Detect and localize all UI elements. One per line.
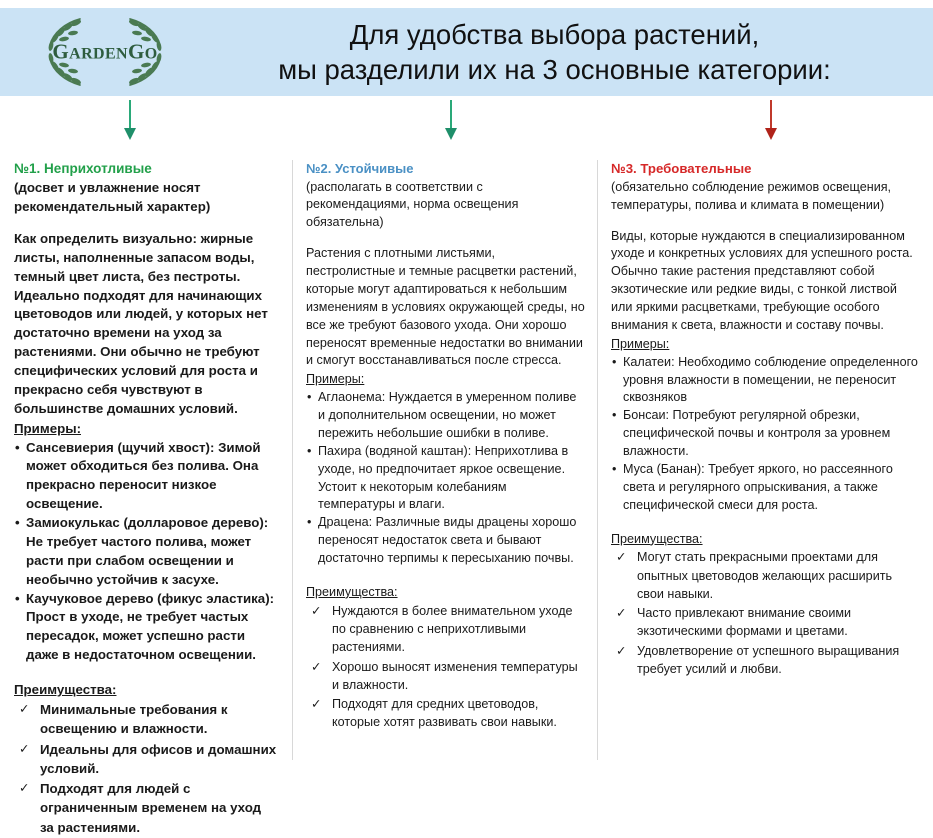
brand-wordmark-o: O: [145, 46, 158, 63]
category-1-intro: Как определить визуально: жирные листы, …: [14, 230, 278, 419]
category-1-examples-list: Сансевиерия (щучий хвост): Зимой может о…: [14, 439, 278, 666]
list-item: Подходят для людей с ограниченным времен…: [14, 779, 278, 837]
category-1-examples-label: Примеры:: [14, 420, 278, 439]
brand-wordmark-g1: G: [52, 40, 69, 64]
category-2-title: №2. Устойчивые: [306, 160, 585, 178]
list-item: Бонсаи: Потребуют регулярной обрезки, сп…: [611, 407, 919, 461]
page-title-line-1: Для удобства выбора растений,: [210, 17, 899, 52]
arrow-head-icon: [765, 128, 777, 140]
category-column-resilient: №2. Устойчивые (располагать в соответств…: [292, 160, 597, 733]
category-2-benefits-list: Нуждаются в более внимательном уходе по …: [306, 602, 585, 732]
category-2-intro: Растения с плотными листьями, пестролист…: [306, 245, 585, 370]
arrow-head-icon: [445, 128, 457, 140]
arrow-shaft: [129, 100, 131, 130]
category-columns: №1. Неприхотливые (досвет и увлажнение н…: [0, 160, 933, 838]
arrow-head-icon: [124, 128, 136, 140]
category-1-benefits-list: Минимальные требования к освещению и вла…: [14, 700, 278, 837]
list-item: Удовлетворение от успешного выращивания …: [611, 642, 919, 679]
list-item: Каучуковое дерево (фикус эластика): Прос…: [14, 590, 278, 666]
category-1-benefits-label: Преимущества:: [14, 681, 278, 700]
header-band: GARDENGO Для удобства выбора растений, м…: [0, 8, 933, 96]
category-2-benefits-label: Преимущества:: [306, 584, 585, 602]
category-2-examples-list: Аглаонема: Нуждается в умеренном поливе …: [306, 389, 585, 568]
category-2-examples-label: Примеры:: [306, 371, 585, 389]
list-item: Сансевиерия (щучий хвост): Зимой может о…: [14, 439, 278, 515]
infographic-page: GARDENGO Для удобства выбора растений, м…: [0, 0, 933, 800]
brand-wordmark-g2: G: [128, 40, 145, 64]
category-1-subtitle: (досвет и увлажнение носят рекомендатель…: [14, 179, 278, 217]
category-3-examples-label: Примеры:: [611, 336, 919, 354]
page-title-line-2: мы разделили их на 3 основные категории:: [210, 52, 899, 87]
arrow-shaft: [450, 100, 452, 130]
list-item: Минимальные требования к освещению и вла…: [14, 700, 278, 739]
category-column-demanding: №3. Требовательные (обязательно соблюден…: [597, 160, 933, 679]
category-3-intro: Виды, которые нуждаются в специализирова…: [611, 228, 919, 335]
category-3-benefits-list: Могут стать прекрасными проектами для оп…: [611, 548, 919, 678]
list-item: Идеальны для офисов и домашних условий.: [14, 740, 278, 779]
list-item: Замиокулькас (долларовое дерево): Не тре…: [14, 514, 278, 590]
list-item: Калатеи: Необходимо соблюдение определен…: [611, 354, 919, 408]
arrow-shaft: [770, 100, 772, 130]
list-item: Пахира (водяной каштан): Неприхотлива в …: [306, 443, 585, 515]
brand-logo: GARDENGO: [0, 8, 210, 96]
list-item: Нуждаются в более внимательном уходе по …: [306, 602, 585, 657]
list-item: Могут стать прекрасными проектами для оп…: [611, 548, 919, 603]
category-1-title: №1. Неприхотливые: [14, 160, 278, 178]
category-3-subtitle: (обязательно соблюдение режимов освещени…: [611, 179, 919, 215]
list-item: Подходят для средних цветоводов, которые…: [306, 695, 585, 732]
list-item: Аглаонема: Нуждается в умеренном поливе …: [306, 389, 585, 443]
list-item: Драцена: Различные виды драцены хорошо п…: [306, 514, 585, 568]
category-3-title: №3. Требовательные: [611, 160, 919, 178]
list-item: Муса (Банан): Требует яркого, но рассеян…: [611, 461, 919, 515]
category-column-undemanding: №1. Неприхотливые (досвет и увлажнение н…: [0, 160, 292, 838]
category-2-subtitle: (располагать в соответствии с рекомендац…: [306, 179, 585, 233]
category-3-benefits-label: Преимущества:: [611, 531, 919, 549]
brand-wordmark: GARDENGO: [0, 42, 210, 63]
list-item: Часто привлекают внимание своими экзотич…: [611, 604, 919, 641]
page-title: Для удобства выбора растений, мы раздели…: [210, 17, 933, 87]
category-3-examples-list: Калатеи: Необходимо соблюдение определен…: [611, 354, 919, 515]
brand-wordmark-arden: ARDEN: [69, 46, 128, 63]
list-item: Хорошо выносят изменения температуры и в…: [306, 658, 585, 695]
